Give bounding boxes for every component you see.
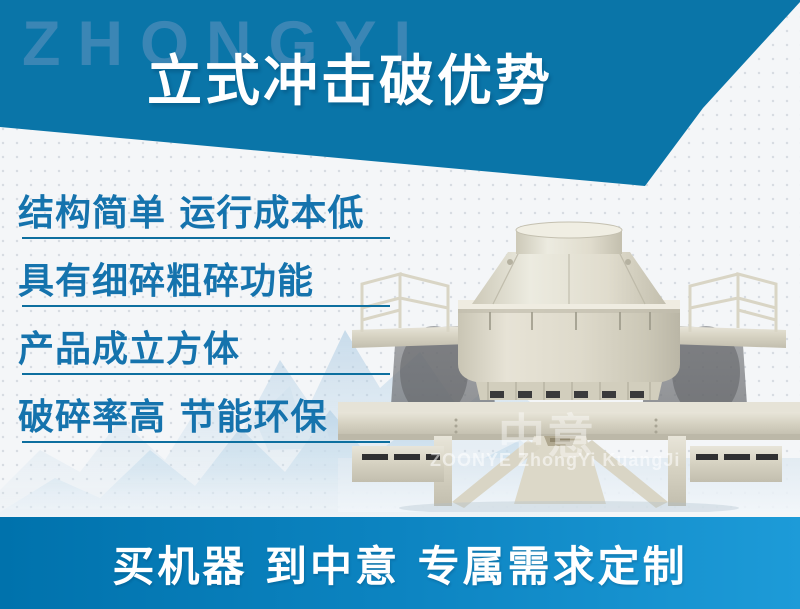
- page-title: 立式冲击破优势: [0, 36, 700, 116]
- footer-slogan-banner: 买机器 到中意 专属需求定制: [0, 517, 800, 609]
- feature-label: 具有细碎粗碎功能: [18, 252, 314, 304]
- feature-label: 产品成立方体: [18, 320, 240, 372]
- footer-slogan: 买机器 到中意 专属需求定制: [112, 533, 687, 594]
- feature-item: 结构简单 运行成本低: [0, 180, 400, 248]
- feature-divider: [22, 373, 390, 375]
- feature-label: 破碎率高 节能环保: [18, 388, 328, 440]
- crusher-machine-photo: [338, 212, 800, 512]
- feature-divider: [22, 305, 390, 307]
- feature-item: 产品成立方体: [0, 316, 400, 384]
- promotional-poster: 中意 ZOONYE ZhongYi KuangJi ZHONGYI 立式冲击破优…: [0, 0, 800, 609]
- feature-item: 具有细碎粗碎功能: [0, 248, 400, 316]
- feature-divider: [22, 237, 390, 239]
- feature-label: 结构简单 运行成本低: [18, 184, 365, 236]
- feature-list: 结构简单 运行成本低 具有细碎粗碎功能 产品成立方体 破碎率高 节能环保: [0, 180, 400, 452]
- feature-item: 破碎率高 节能环保: [0, 384, 400, 452]
- feature-divider: [22, 441, 390, 443]
